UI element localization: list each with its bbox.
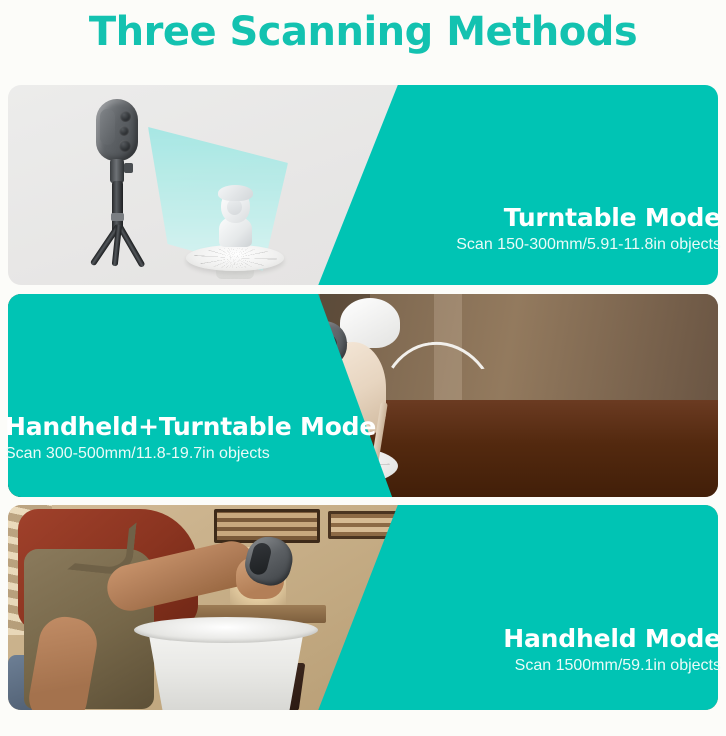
turntable-platter [186,245,284,271]
bucket-rim [134,617,318,643]
mode-title: Handheld+Turntable Mode [5,412,376,442]
scanner-side-panel [100,109,115,145]
mode-title: Handheld Mode [503,624,721,654]
scanner-mount-neck [110,159,124,183]
panel-handheld-turntable-mode[interactable] [8,294,718,497]
scanner-lens-icon [119,126,129,136]
caption-turntable-mode: Turntable Mode Scan 150-300mm/5.91-11.8i… [456,203,721,256]
caption-handheld-turntable-mode: Handheld+Turntable Mode Scan 300-500mm/1… [5,412,376,465]
mode-scan-range: Scan 300-500mm/11.8-19.7in objects [5,443,376,465]
scanner-lens-icon [120,111,131,122]
tripod-adjust-knob [124,163,133,173]
mode-scan-range: Scan 150-300mm/5.91-11.8in objects [456,234,721,256]
scanner-lens-icon [119,140,131,152]
panel-handheld-mode[interactable] [8,505,718,710]
scanner-lens-strip [248,541,273,576]
background-statue [340,298,400,348]
page-title: Three Scanning Methods [0,6,726,58]
scanning-methods-infographic: Three Scanning Methods [0,0,726,736]
bust-statue-face [227,199,242,215]
scanner-head [96,99,138,161]
mode-scan-range: Scan 1500mm/59.1in objects [503,655,721,677]
tripod-collar [111,213,124,221]
mode-title: Turntable Mode [456,203,721,233]
caption-handheld-mode: Handheld Mode Scan 1500mm/59.1in objects [503,624,721,677]
bust-statue-hair [218,185,253,201]
